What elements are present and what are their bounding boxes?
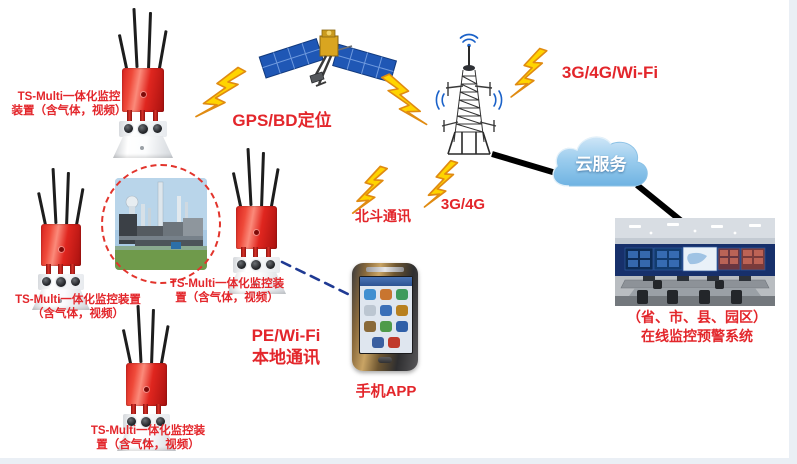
app-icon-monitor[interactable]	[380, 289, 392, 300]
sensor-port	[266, 260, 275, 269]
app-icon-pause[interactable]	[396, 321, 408, 332]
phone-screen[interactable]	[359, 276, 413, 354]
link-label-3g-4g: 3G/4G	[434, 196, 492, 215]
antenna	[269, 168, 279, 210]
phone-app-grid[interactable]	[363, 289, 409, 351]
app-icon-map[interactable]	[380, 305, 392, 316]
app-icon-settings[interactable]	[396, 289, 408, 300]
antenna	[260, 152, 265, 208]
app-icon-run[interactable]	[388, 337, 400, 348]
device-label-mid-right: TS-Multi一体化监控装 置（含气体，视频）	[160, 277, 294, 306]
device-body	[126, 363, 167, 406]
link-label-gps-bd: GPS/BD定位	[222, 110, 342, 131]
app-icon-camera[interactable]	[380, 321, 392, 332]
cloud-service-node: 云服务	[545, 130, 657, 192]
antenna	[147, 12, 152, 70]
antenna	[159, 325, 169, 367]
app-icon-data[interactable]	[364, 305, 376, 316]
base-indicator	[140, 146, 144, 150]
handheld-device[interactable]	[352, 263, 418, 371]
antenna	[157, 30, 167, 72]
control-room-caption: （省、市、县、园区） 在线监控预警系统	[608, 308, 786, 346]
device-label-bottom: TS-Multi一体化监控装 置（含气体，视频）	[78, 424, 218, 453]
sensor-port	[124, 124, 133, 133]
sensor-port	[42, 277, 51, 286]
link-label-pe-wifi: PE/Wi-Fi 本地通讯	[238, 325, 334, 369]
device-body	[236, 206, 277, 249]
device-label-top-left: TS-Multi一体化监控 装置（含气体，视频）	[6, 90, 132, 119]
sensor-port	[71, 277, 80, 286]
sensor-port	[251, 260, 261, 270]
monitoring-device-mid-right[interactable]	[222, 148, 300, 294]
diagram-canvas: 云服务	[0, 0, 789, 458]
antenna	[52, 168, 58, 224]
antenna	[75, 188, 84, 228]
monitoring-device-mid-left[interactable]	[28, 168, 104, 310]
phone-home-button[interactable]	[378, 357, 392, 363]
app-icon-alarm[interactable]	[396, 305, 408, 316]
app-icon-report[interactable]	[364, 321, 376, 332]
antenna	[246, 148, 252, 206]
device-body	[41, 224, 81, 266]
phone-top-bar	[366, 267, 404, 272]
link-label-3g-4g-wifi: 3G/4G/Wi-Fi	[544, 62, 676, 83]
control-room-photo	[615, 218, 775, 306]
antenna	[65, 172, 70, 226]
sensor-port	[138, 124, 148, 134]
phone-status-bar	[360, 277, 412, 286]
monitoring-device-top-left[interactable]	[108, 8, 188, 158]
refinery-inset	[101, 164, 221, 284]
sensor-port	[56, 277, 66, 287]
app-icon-gauge[interactable]	[372, 337, 384, 348]
cell-tower-icon	[432, 26, 506, 160]
device-label-mid-left: TS-Multi一体化监控装置 （含气体，视频）	[2, 293, 154, 322]
link-label-beidou: 北斗通讯	[348, 208, 418, 226]
cloud-label: 云服务	[545, 150, 657, 175]
phone-app-caption: 手机APP	[350, 383, 422, 402]
sensor-port	[237, 260, 246, 269]
app-icon-home[interactable]	[364, 289, 376, 300]
refinery-circle	[101, 164, 221, 284]
antenna	[132, 8, 138, 68]
sensor-port	[153, 124, 162, 133]
bolt-satellite-right-icon	[371, 66, 437, 135]
